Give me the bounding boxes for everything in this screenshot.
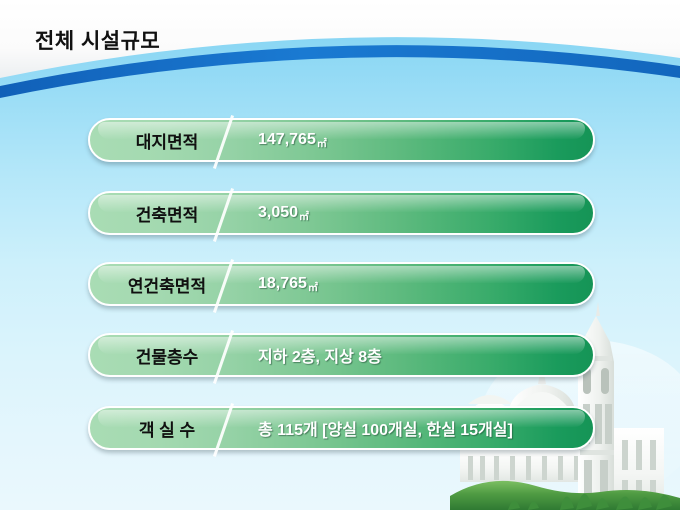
row-value-number: 3,050 bbox=[258, 204, 298, 222]
row-value: 지하 2층, 지상 8층 bbox=[258, 333, 383, 377]
row-value: 3,050㎡ bbox=[258, 191, 309, 235]
row-label: 건축면적 bbox=[108, 191, 226, 235]
row-value-unit: ㎡ bbox=[299, 208, 309, 223]
row-label: 대지면적 bbox=[108, 118, 226, 162]
row-label: 건물층수 bbox=[108, 333, 226, 377]
row-value-unit: ㎡ bbox=[317, 135, 327, 150]
row-label: 객 실 수 bbox=[108, 406, 226, 450]
row-value: 18,765㎡ bbox=[258, 262, 318, 306]
row-value: 총 115개 [양실 100개실, 한실 15개실] bbox=[258, 406, 514, 450]
facility-bar-list: 대지면적 147,765㎡ 건축면적 3,050㎡ 연건축면적 18,765㎡ … bbox=[0, 0, 680, 510]
page-title: 전체 시설규모 bbox=[35, 25, 160, 55]
table-row[interactable]: 객 실 수 총 115개 [양실 100개실, 한실 15개실] bbox=[88, 406, 595, 450]
table-row[interactable]: 대지면적 147,765㎡ bbox=[88, 118, 595, 162]
row-value-number: 지하 2층, 지상 8층 bbox=[258, 343, 382, 367]
table-row[interactable]: 건물층수 지하 2층, 지상 8층 bbox=[88, 333, 595, 377]
row-value-number: 총 115개 [양실 100개실, 한실 15개실] bbox=[258, 416, 513, 440]
row-value-number: 147,765 bbox=[258, 131, 316, 149]
row-value: 147,765㎡ bbox=[258, 118, 327, 162]
row-label: 연건축면적 bbox=[108, 262, 226, 306]
row-value-unit: ㎡ bbox=[308, 279, 318, 294]
table-row[interactable]: 건축면적 3,050㎡ bbox=[88, 191, 595, 235]
slide-canvas: 전체 시설규모 대지면적 147,765㎡ 건축면적 3,050㎡ 연건축면적 … bbox=[0, 0, 680, 510]
row-value-number: 18,765 bbox=[258, 275, 307, 293]
table-row[interactable]: 연건축면적 18,765㎡ bbox=[88, 262, 595, 306]
